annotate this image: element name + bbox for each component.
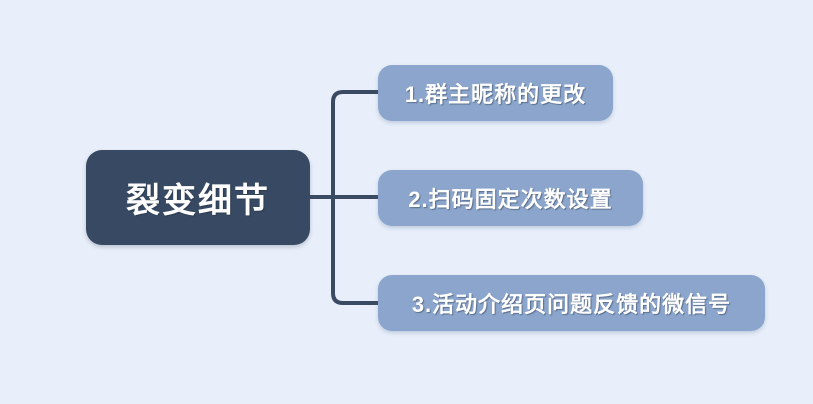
mindmap-canvas: 裂变细节 1.群主昵称的更改 2.扫码固定次数设置 3.活动介绍页问题反馈的微信… bbox=[0, 0, 813, 404]
child-node-1[interactable]: 1.群主昵称的更改 bbox=[378, 65, 613, 121]
child-node-1-label: 1.群主昵称的更改 bbox=[405, 77, 586, 109]
root-node[interactable]: 裂变细节 bbox=[86, 150, 310, 245]
root-node-label: 裂变细节 bbox=[126, 173, 270, 222]
child-node-3[interactable]: 3.活动介绍页问题反馈的微信号 bbox=[378, 275, 765, 331]
child-node-2[interactable]: 2.扫码固定次数设置 bbox=[378, 170, 643, 226]
connector-trunk-to-child-1 bbox=[333, 92, 378, 197]
child-node-2-label: 2.扫码固定次数设置 bbox=[408, 182, 612, 214]
child-node-3-label: 3.活动介绍页问题反馈的微信号 bbox=[412, 287, 731, 319]
connector-trunk-to-child-3 bbox=[333, 197, 378, 303]
